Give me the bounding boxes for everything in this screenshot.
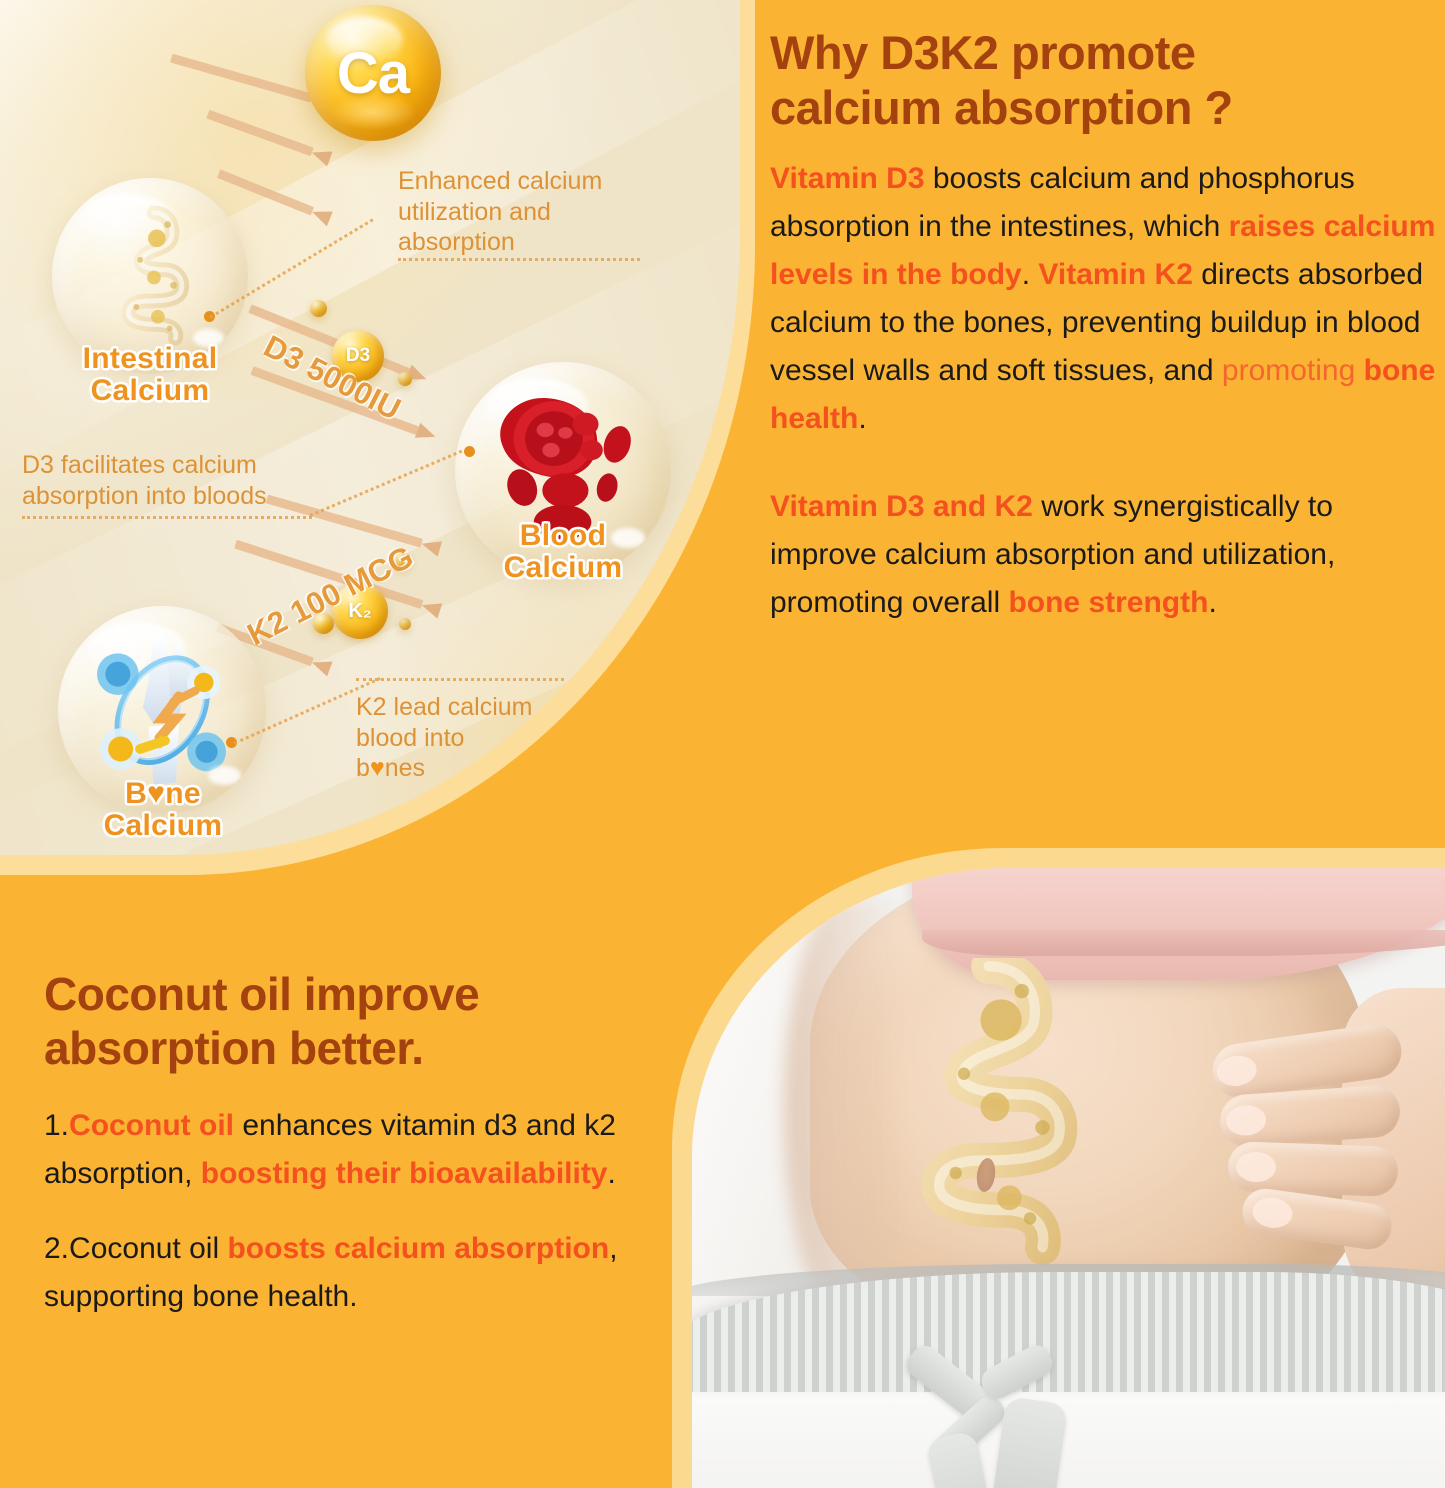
coconut-oil-section: Coconut oil improve absorption better. 1… (44, 968, 704, 1348)
mini-droplet (398, 372, 412, 386)
bone-label-pre: B (125, 777, 147, 810)
drawstring-bow (902, 1338, 1122, 1488)
diagram-panel: Ca (0, 0, 740, 855)
hl-promoting: promoting (1222, 354, 1364, 387)
bone-label-post: ne (165, 777, 201, 810)
annotation-underline (356, 678, 564, 681)
why-heading: Why D3K2 promote calcium absorption ? (770, 26, 1438, 135)
heart-icon: ♥ (147, 777, 165, 810)
leader-dot (464, 446, 475, 457)
hl-vitamin-d3-k2: Vitamin D3 and K2 (770, 490, 1033, 523)
why-d3k2-section: Why D3K2 promote calcium absorption ? Vi… (770, 26, 1438, 631)
bullet-2-number: 2. (44, 1232, 69, 1265)
hl-boosts-calcium-absorption: boosts calcium absorption (227, 1232, 609, 1265)
intestinal-calcium-label: Intestinal Calcium (40, 343, 260, 407)
hl-vitamin-d3: Vitamin D3 (770, 162, 925, 195)
leader-line (309, 450, 462, 517)
coconut-bullet-2: 2.Coconut oil boosts calcium absorption,… (44, 1225, 704, 1322)
mini-droplet (310, 300, 327, 317)
bullet-1-text-b: . (608, 1157, 616, 1190)
annotation-k2-lead: K2 lead calcium blood into b♥nes (356, 692, 596, 784)
finger (1227, 1141, 1399, 1197)
pink-top-hem (922, 930, 1445, 956)
annotation-d3-facilitates: D3 facilitates calcium absorption into b… (22, 450, 322, 511)
hl-bioavailability: boosting their bioavailability (201, 1157, 608, 1190)
why-paragraph-1: Vitamin D3 boosts calcium and phosphorus… (770, 155, 1438, 443)
blood-calcium-label: Blood Calcium (458, 520, 668, 584)
annotation-underline (22, 516, 312, 519)
bone-calcium-label: B♥ne Calcium (58, 778, 268, 842)
coconut-heading: Coconut oil improve absorption better. (44, 968, 704, 1076)
annotation-enhanced: Enhanced calcium utilization and absorpt… (398, 166, 658, 258)
bones-pre: b (356, 754, 370, 782)
intestine-overlay-icon (892, 958, 1102, 1268)
hl-coconut-oil: Coconut oil (69, 1109, 234, 1142)
heart-icon: ♥ (370, 754, 385, 782)
infographic-page: Ca (0, 0, 1445, 1445)
why-paragraph-2: Vitamin D3 and K2 work synergistically t… (770, 483, 1438, 627)
hl-bone-strength: bone strength (1008, 586, 1208, 619)
p2-text-b: . (1208, 586, 1216, 619)
bullet-1-number: 1. (44, 1109, 69, 1142)
coconut-bullet-1: 1.Coconut oil enhances vitamin d3 and k2… (44, 1102, 704, 1199)
calcium-sphere: Ca (305, 5, 441, 141)
hand (1192, 998, 1445, 1288)
mini-droplet (399, 618, 411, 630)
annotation-underline (398, 258, 640, 261)
p1-text-d: . (858, 402, 866, 435)
photo-ring (672, 848, 1445, 1488)
hl-vitamin-k2: Vitamin K2 (1038, 258, 1193, 291)
calcium-sphere-label: Ca (305, 5, 441, 141)
torso-shadow (784, 898, 904, 1318)
bones-post: nes (385, 754, 425, 782)
belly-photo (692, 868, 1445, 1488)
p1-text-b: . (1022, 258, 1039, 291)
bullet-2-text-a: Coconut oil (69, 1232, 227, 1265)
intestine-icon (103, 205, 201, 350)
